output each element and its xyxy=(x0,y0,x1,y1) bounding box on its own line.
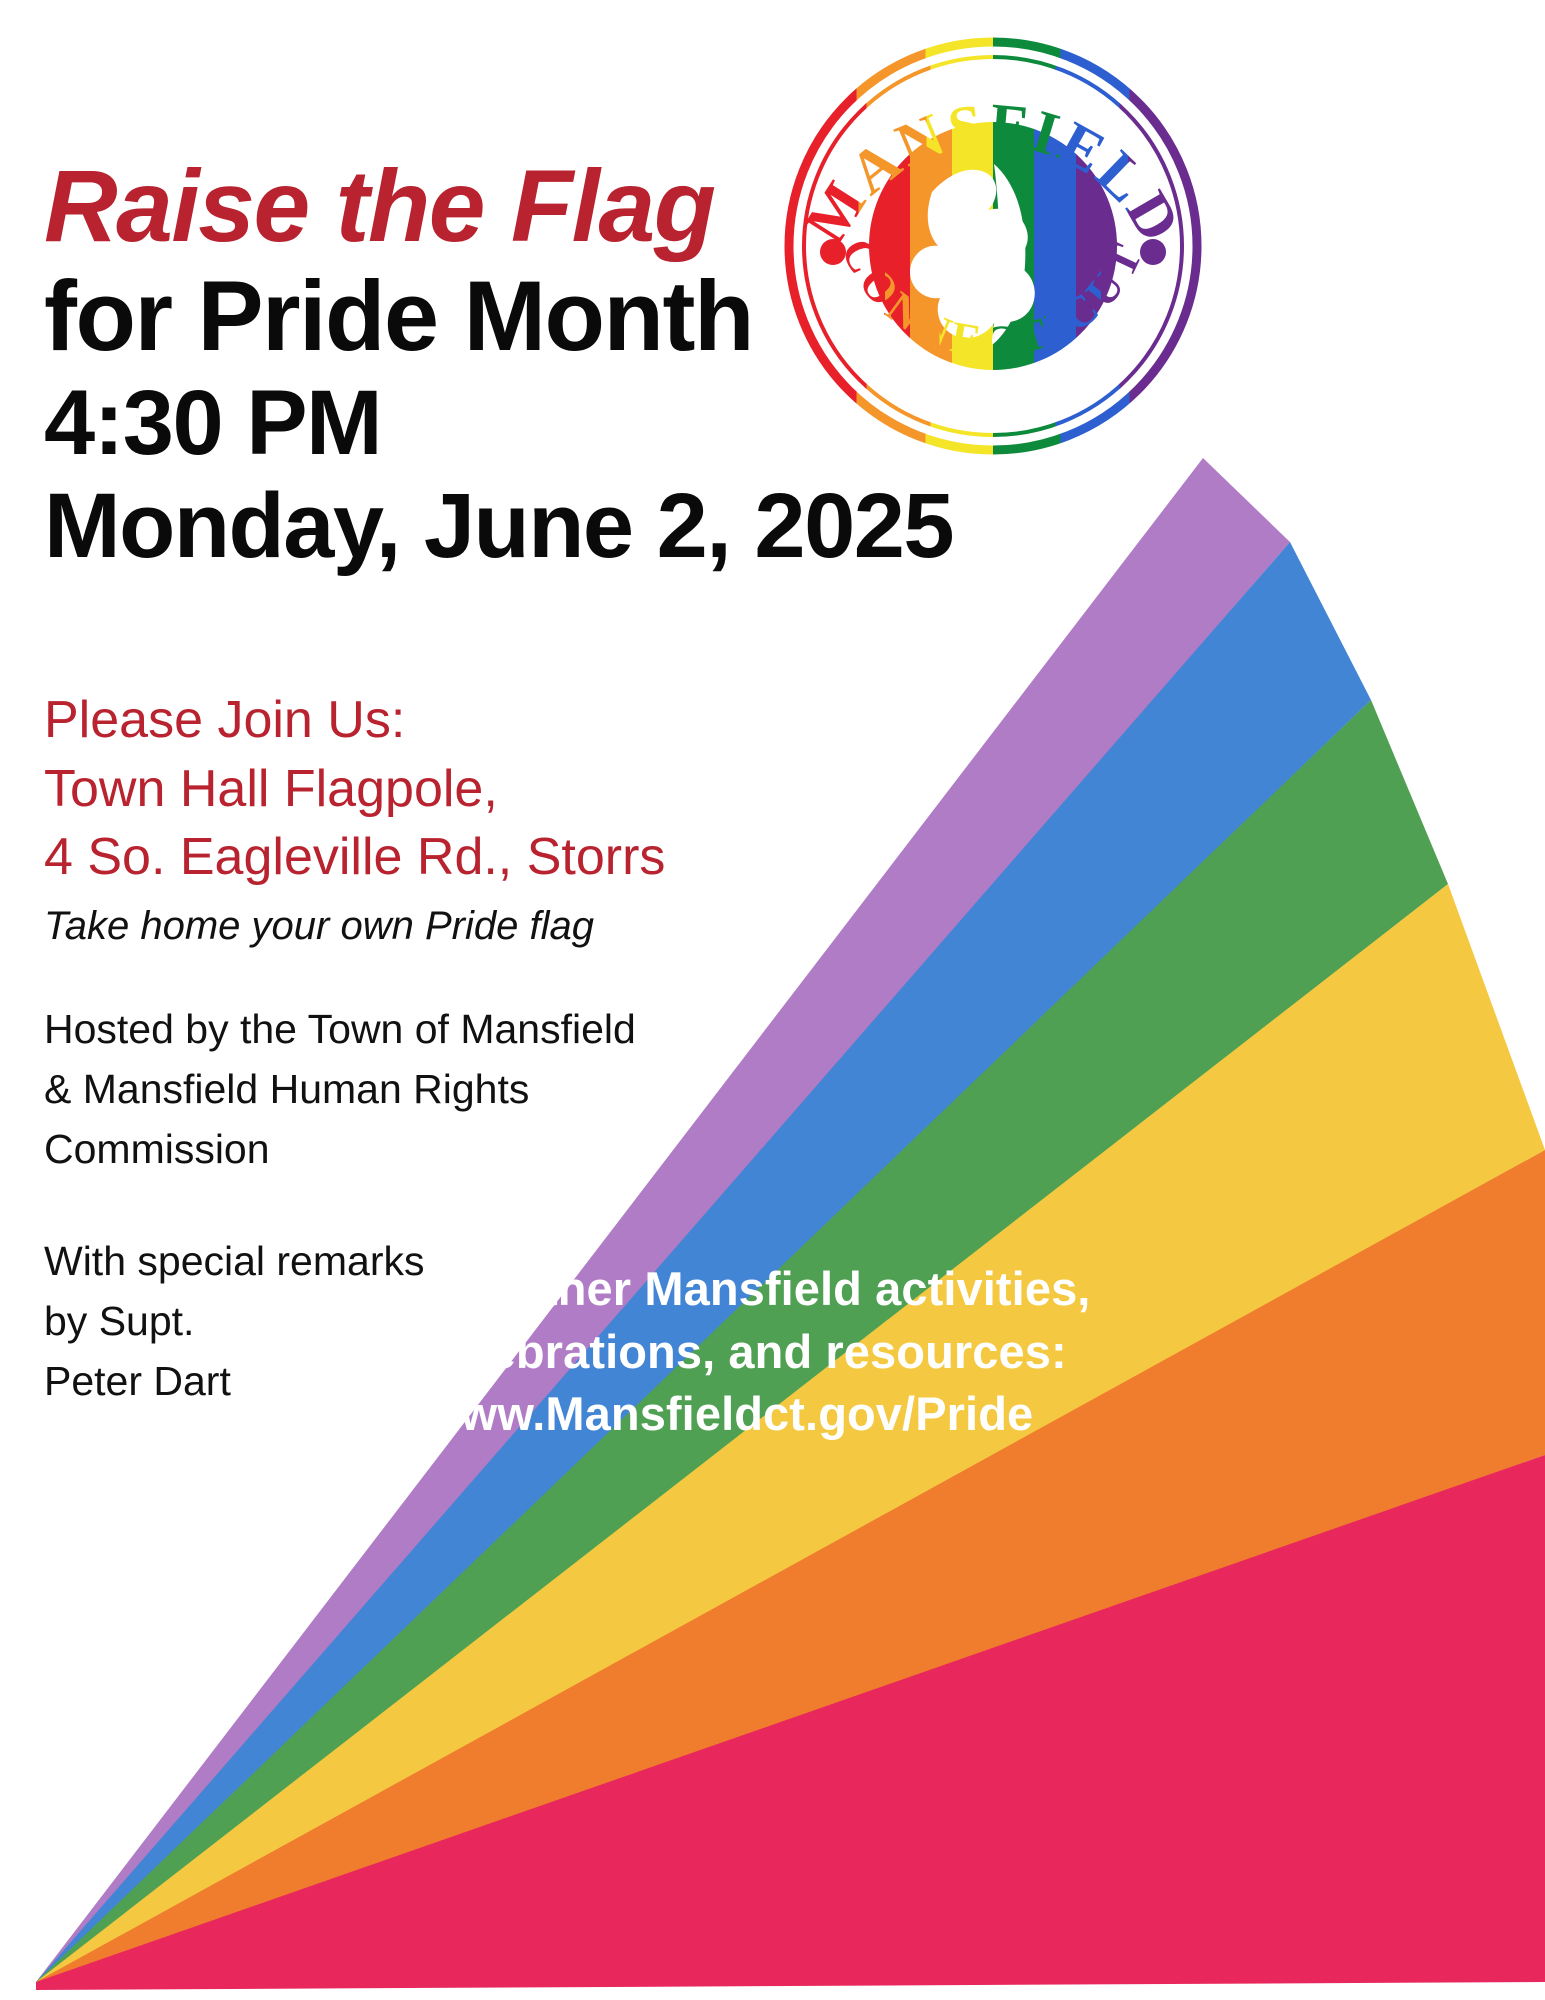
pride-flag-raising-poster: MANSFIELD CONNECTICUT Raise the Flag for… xyxy=(0,0,1545,2000)
headline-date: Monday, June 2, 2025 xyxy=(44,475,944,578)
join-venue: Town Hall Flagpole, xyxy=(44,755,804,824)
hosted-by-block: Hosted by the Town of Mansfield & Mansfi… xyxy=(44,1000,744,1180)
promo-block: For other Mansfield activities, celebrat… xyxy=(424,1258,1504,1446)
join-please-join-us: Please Join Us: xyxy=(44,686,804,755)
take-home-flag-note: Take home your own Pride flag xyxy=(44,904,804,949)
hosted-line-2: & Mansfield Human Rights xyxy=(44,1060,744,1120)
seal-dot-right xyxy=(1140,239,1166,265)
headline-raise-the-flag: Raise the Flag xyxy=(44,152,944,261)
promo-website-url[interactable]: www.Mansfieldct.gov/Pride xyxy=(424,1383,1504,1446)
promo-line-1: For other Mansfield activities, xyxy=(424,1258,1504,1321)
hosted-line-3: Commission xyxy=(44,1120,744,1180)
headline-for-pride-month: for Pride Month xyxy=(44,261,944,372)
hosted-line-1: Hosted by the Town of Mansfield xyxy=(44,1000,744,1060)
join-us-block: Please Join Us: Town Hall Flagpole, 4 So… xyxy=(44,686,804,949)
rainbow-stripe-pink xyxy=(36,1455,1545,1990)
headline-time: 4:30 PM xyxy=(44,372,944,475)
promo-line-2: celebrations, and resources: xyxy=(424,1321,1504,1384)
headline-block: Raise the Flag for Pride Month 4:30 PM M… xyxy=(44,152,944,578)
join-address: 4 So. Eagleville Rd., Storrs xyxy=(44,823,804,892)
